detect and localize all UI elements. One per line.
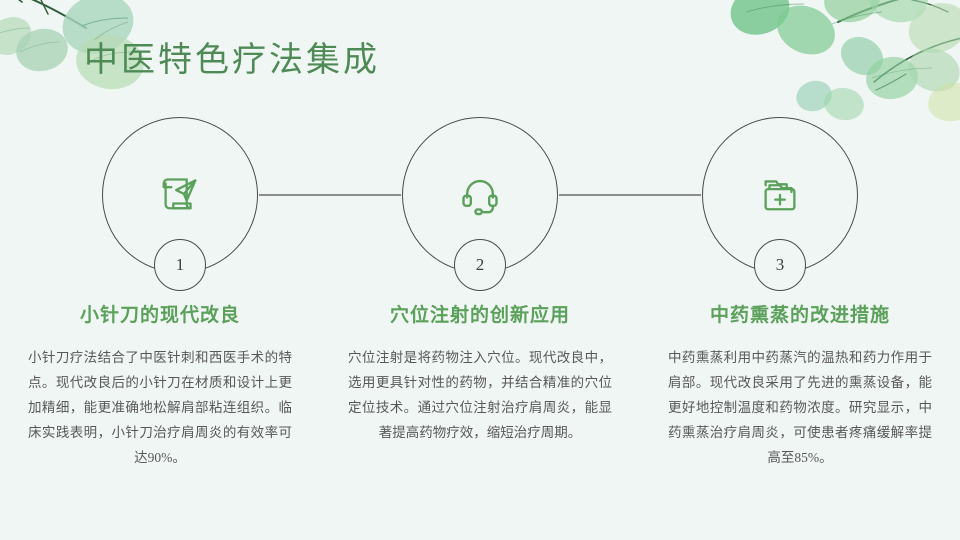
node-badge-2: 2 [454,239,506,291]
column-1-body: 小针刀疗法结合了中医针刺和西医手术的特点。现代改良后的小针刀在材质和设计上更加精… [28,346,292,471]
column-2-heading: 穴位注射的创新应用 [348,305,612,328]
text-columns: 小针刀的现代改良 小针刀疗法结合了中医针刺和西医手术的特点。现代改良后的小针刀在… [0,305,960,471]
column-1-heading: 小针刀的现代改良 [28,305,292,328]
column-3-heading: 中药熏蒸的改进措施 [668,305,932,328]
column-1: 小针刀的现代改良 小针刀疗法结合了中医针刺和西医手术的特点。现代改良后的小针刀在… [0,305,320,471]
column-2-body: 穴位注射是将药物注入穴位。现代改良中，选用更具针对性的药物，并结合精准的穴位定位… [348,346,612,446]
node-row: 1 2 3 [0,0,960,300]
headset-icon [452,166,508,222]
medical-folder-plus-icon [752,166,808,222]
column-3-body: 中药熏蒸利用中药蒸汽的温热和药力作用于肩部。现代改良采用了先进的熏蒸设备，能更好… [668,346,932,471]
node-badge-3: 3 [754,239,806,291]
scroll-paper-plane-icon [152,166,208,222]
node-badge-1: 1 [154,239,206,291]
column-3: 中药熏蒸的改进措施 中药熏蒸利用中药蒸汽的温热和药力作用于肩部。现代改良采用了先… [640,305,960,471]
slide-root: 中医特色疗法集成 [0,0,960,540]
column-2: 穴位注射的创新应用 穴位注射是将药物注入穴位。现代改良中，选用更具针对性的药物，… [320,305,640,471]
